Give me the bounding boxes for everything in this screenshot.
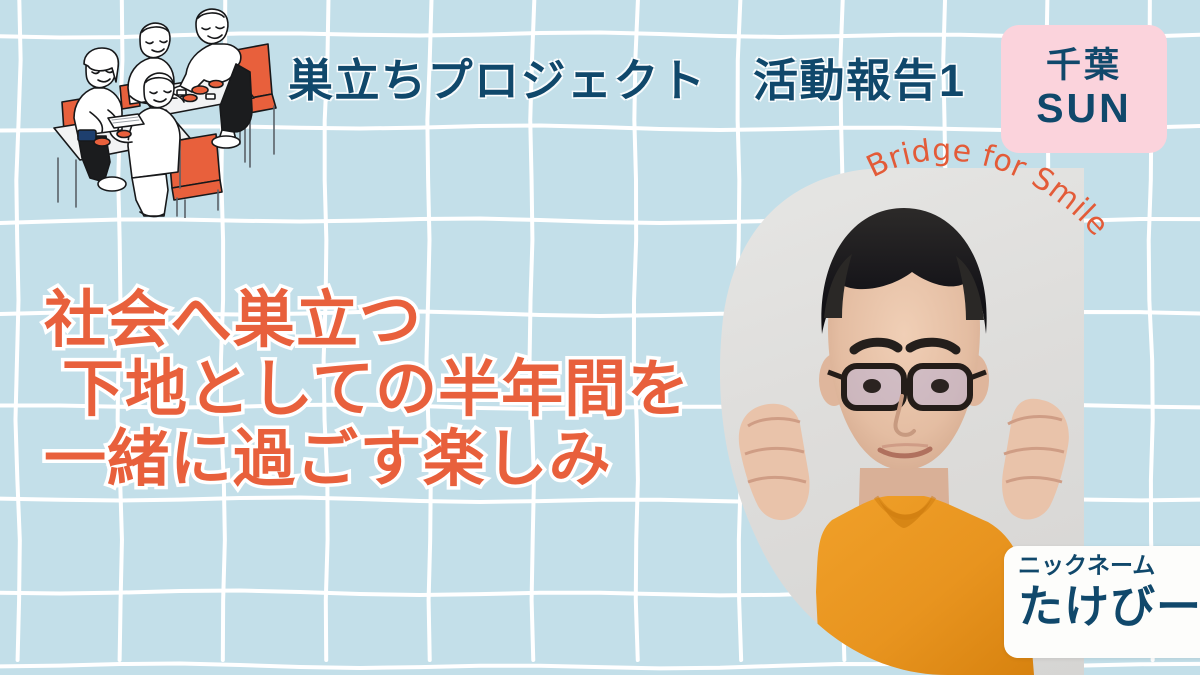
headline-line-2: 下地としての半年間を xyxy=(62,355,744,424)
nickname-value: たけびー xyxy=(1018,581,1200,633)
page-title: 巣立ちプロジェクト 活動報告1 xyxy=(288,44,966,109)
nickname-label: ニックネーム xyxy=(1018,553,1200,578)
headline-block: 社会へ巣立つ 下地としての半年間を 一緒に過ごす楽しみ xyxy=(44,286,744,494)
badge-line-2: SUN xyxy=(1036,87,1132,130)
nickname-card: ニックネーム たけびー xyxy=(1004,546,1200,658)
badge-line-1: 千葉 xyxy=(1046,48,1122,85)
slide-canvas: 巣立ちプロジェクト 活動報告1 千葉 SUN xyxy=(0,0,1200,675)
headline-line-3: 一緒に過ごす楽しみ xyxy=(44,425,744,494)
chiba-sun-badge: 千葉 SUN xyxy=(1001,25,1167,153)
workshop-people-illustration xyxy=(40,2,302,218)
headline-line-1: 社会へ巣立つ xyxy=(44,286,744,355)
